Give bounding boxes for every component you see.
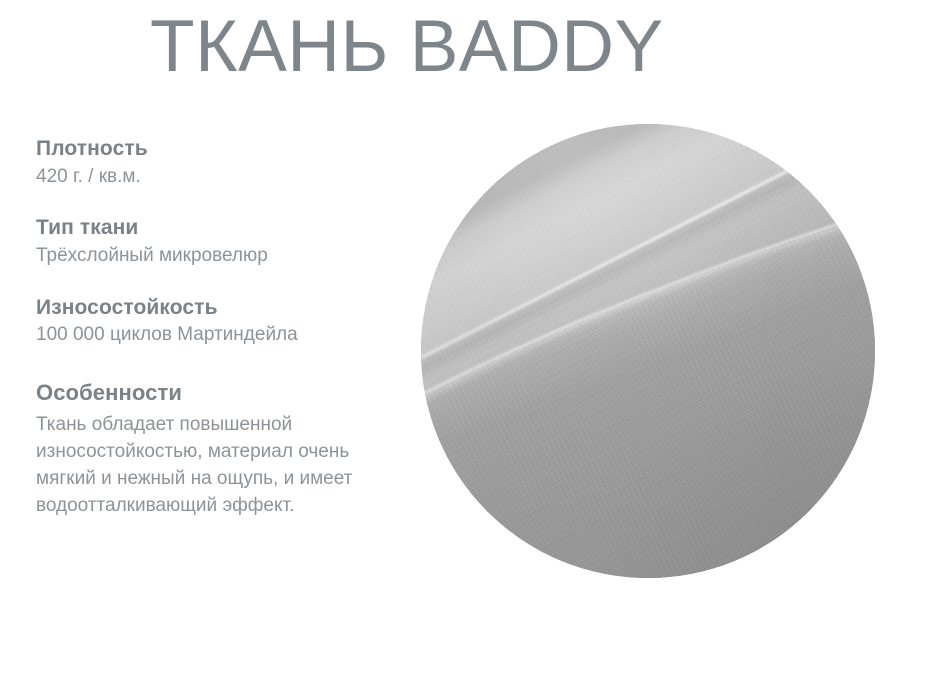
- page-title: ТКАНЬ BADDY: [150, 8, 664, 87]
- spec-heading-density: Плотность: [36, 136, 406, 162]
- spec-value-features: Ткань обладает повышенной износостойкост…: [36, 412, 381, 520]
- spec-value-density: 420 г. / кв.м.: [36, 165, 406, 190]
- fabric-spec-poster: ТКАНЬ BADDY Плотность 420 г. / кв.м. Тип…: [0, 0, 934, 700]
- spec-item-fabric-type: Тип ткани Трёхслойный микровелюр: [36, 215, 406, 268]
- spec-item-features: Особенности Ткань обладает повышенной из…: [36, 380, 406, 520]
- fabric-swatch-photo: [421, 124, 875, 578]
- spec-list: Плотность 420 г. / кв.м. Тип ткани Трёхс…: [36, 136, 406, 520]
- spec-item-density: Плотность 420 г. / кв.м.: [36, 136, 406, 189]
- spec-value-durability: 100 000 циклов Мартиндейла: [36, 323, 406, 348]
- fabric-lighting-overlay: [421, 124, 875, 578]
- spec-item-durability: Износостойкость 100 000 циклов Мартиндей…: [36, 295, 406, 348]
- fabric-photo-content: [421, 124, 875, 578]
- spec-heading-features: Особенности: [36, 380, 406, 407]
- spec-heading-durability: Износостойкость: [36, 295, 406, 321]
- spec-value-fabric-type: Трёхслойный микровелюр: [36, 244, 406, 269]
- spec-heading-fabric-type: Тип ткани: [36, 215, 406, 241]
